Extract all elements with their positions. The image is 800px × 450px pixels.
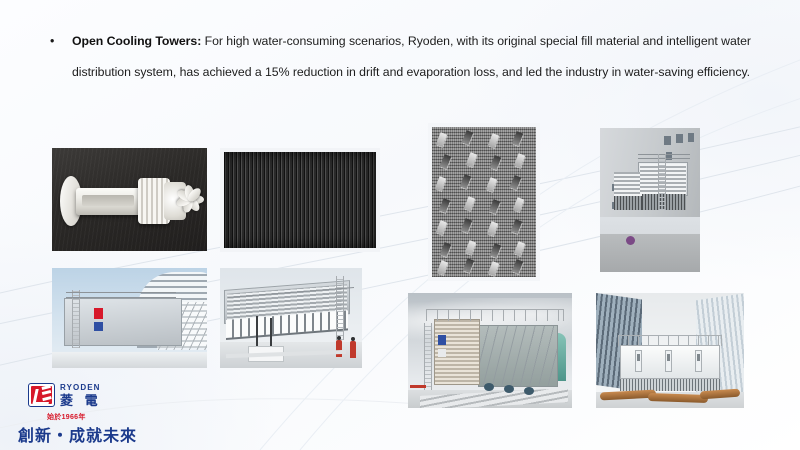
nozzle-spreader	[178, 181, 207, 221]
photo-tower-with-residential-building	[52, 268, 207, 368]
cooling-tower-casing	[64, 298, 182, 346]
photo-tower-with-green-glass-building	[408, 293, 572, 408]
photo-dark-fill-media	[220, 148, 380, 252]
logo-since-text: 始於1966年	[47, 412, 86, 422]
roof-parapet	[52, 352, 207, 368]
fill-media-texture	[224, 152, 376, 248]
slide-canvas: • Open Cooling Towers: For high water-co…	[0, 0, 800, 450]
cooling-tower-casing	[620, 345, 720, 379]
company-logo: RYODEN 菱 電 始於1966年 創新・成就未來	[10, 383, 160, 441]
photo-cooling-tower-array-with-workers	[220, 268, 362, 368]
access-ladder	[336, 276, 344, 340]
photo-water-distribution-nozzle	[52, 148, 207, 251]
photo-white-tower-between-highrises	[596, 293, 744, 408]
tower-air-inlet-mesh	[620, 379, 720, 391]
logo-chinese-name: 菱 電	[60, 394, 102, 407]
bullet-marker: •	[46, 26, 72, 88]
photo-rooftop-cooling-tower	[600, 128, 700, 272]
access-ladder	[72, 290, 80, 348]
logo-lockup: RYODEN 菱 電	[28, 383, 102, 407]
bullet-paragraph: • Open Cooling Towers: For high water-co…	[46, 26, 758, 88]
tower-air-inlet-mesh	[614, 196, 642, 210]
worker-figure	[336, 340, 342, 357]
fill-sheet-texture	[432, 127, 536, 277]
roof-handrail	[426, 309, 564, 321]
tower-steel-frame	[478, 325, 558, 387]
nozzle-body	[76, 188, 144, 215]
access-ladder	[658, 154, 666, 210]
paragraph-text: Open Cooling Towers: For high water-cons…	[72, 26, 758, 88]
access-ladder	[424, 323, 432, 391]
worker-figure	[350, 341, 356, 358]
ryoden-mark-icon	[28, 383, 55, 407]
photo-grey-fill-sheet	[428, 123, 540, 281]
logo-wordmark: RYODEN 菱 電	[60, 384, 102, 407]
logo-slogan: 創新・成就未來	[18, 422, 137, 446]
logo-english-name: RYODEN	[60, 384, 102, 392]
paragraph-heading: Open Cooling Towers:	[72, 34, 201, 48]
ground-slab	[600, 234, 700, 272]
